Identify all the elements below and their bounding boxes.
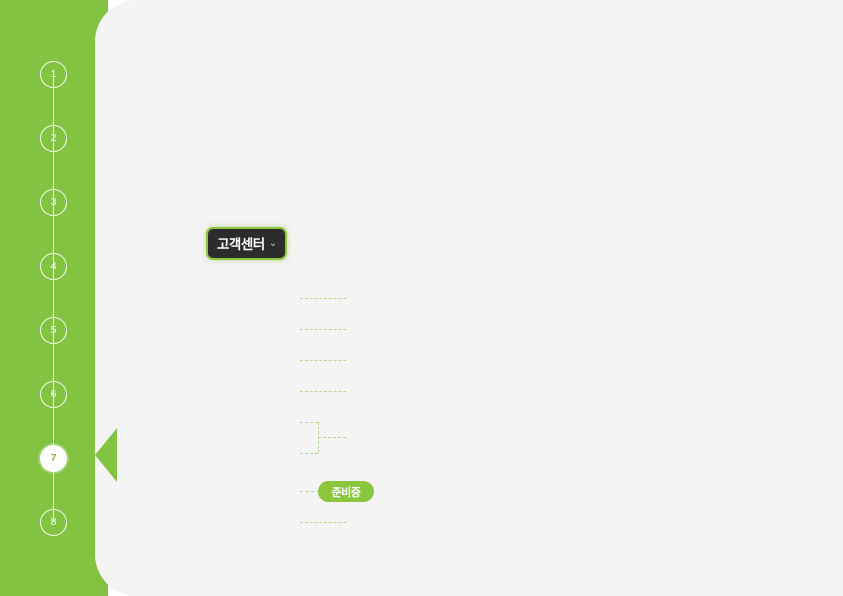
step-indicator-8[interactable]: 8 (40, 509, 67, 536)
connector-notice (300, 522, 346, 523)
step-indicator-5[interactable]: 5 (40, 317, 67, 344)
content-card-inner (95, 0, 843, 596)
connector-consult (300, 298, 346, 299)
connector-store-entry-stub (300, 453, 318, 454)
step-indicator-2[interactable]: 2 (40, 125, 67, 152)
nav-highlight-customer-center[interactable]: 고객센터 ⌄ (206, 227, 287, 260)
step-indicator-4[interactable]: 4 (40, 253, 67, 280)
connector-partnership-stub (300, 422, 318, 423)
nav-highlight-label: 고객센터 (217, 233, 265, 253)
connector-sample (300, 491, 320, 492)
step-indicator-7[interactable]: 7 (40, 445, 67, 472)
slide-root: 1 2 3 4 5 6 7 8 SAMMAmall 고객센터 1899.3153 (0, 0, 843, 596)
connector-merge-horizontal (318, 437, 346, 438)
connector-return (300, 329, 346, 330)
connector-claim (300, 391, 346, 392)
step-indicator-6[interactable]: 6 (40, 381, 67, 408)
step-indicator-3[interactable]: 3 (40, 189, 67, 216)
connector-as (300, 360, 346, 361)
status-badge-preparing: 준비중 (318, 481, 374, 502)
content-card (95, 0, 843, 596)
step-indicator-1[interactable]: 1 (40, 61, 67, 88)
chevron-down-icon: ⌄ (269, 238, 277, 249)
step-rail: 1 2 3 4 5 6 7 8 (0, 0, 108, 596)
